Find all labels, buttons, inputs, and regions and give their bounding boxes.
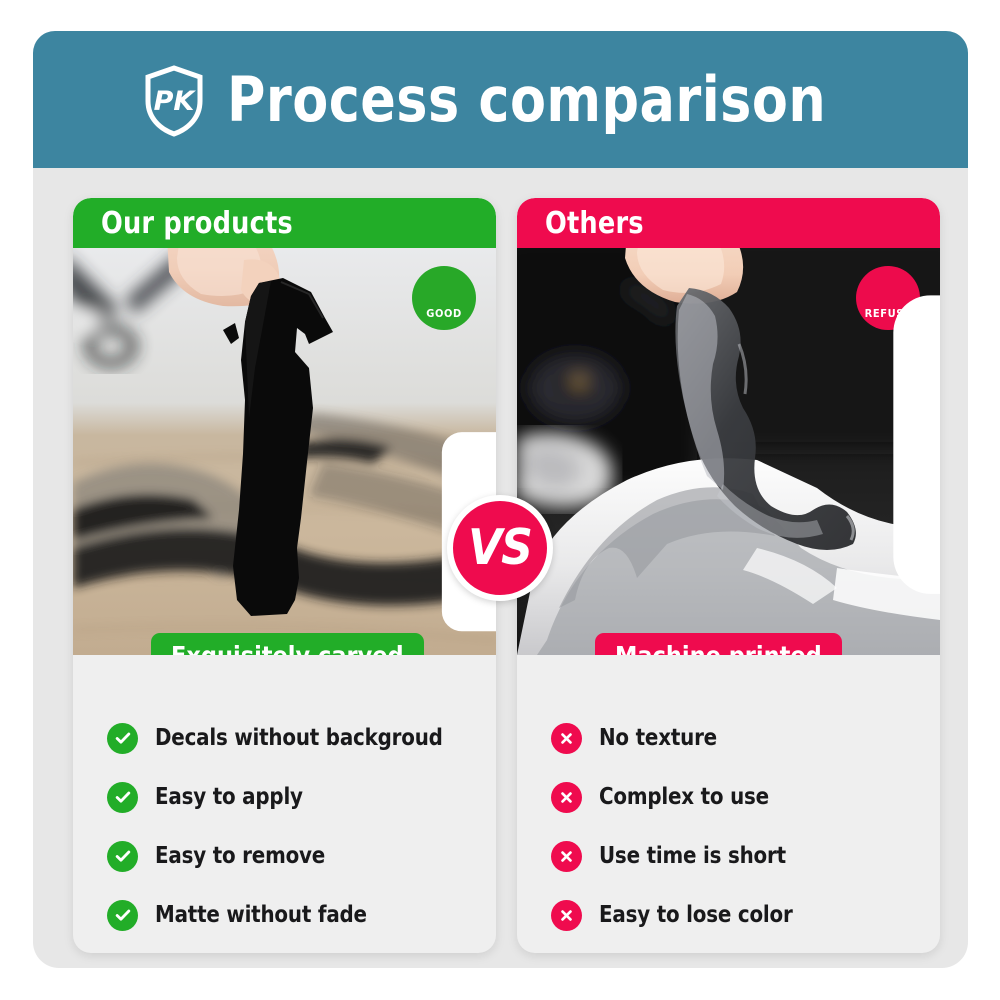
card-heading-ours: Our products xyxy=(73,198,496,248)
photo-others: REFUSE Machine printed xyxy=(517,248,940,655)
vs-badge-label: VS xyxy=(468,519,532,576)
card-heading-label: Others xyxy=(545,206,644,241)
card-heading-others: Others xyxy=(517,198,940,248)
svg-text:PK: PK xyxy=(154,86,197,117)
badge-good: GOOD xyxy=(412,266,476,330)
comparison-card-others: Others xyxy=(517,198,940,953)
check-icon xyxy=(107,723,138,754)
feature-item: Use time is short xyxy=(551,827,940,885)
infographic-root: PK Process comparison Our products xyxy=(0,0,1000,1000)
check-icon xyxy=(107,900,138,931)
badge-refuse: REFUSE xyxy=(856,266,920,330)
feature-list-ours: Decals without backgroud Easy to apply E… xyxy=(73,655,496,944)
vs-badge: VS xyxy=(447,495,553,601)
feature-label: Decals without backgroud xyxy=(155,725,443,751)
feature-label: Use time is short xyxy=(599,843,786,869)
cross-icon xyxy=(551,782,582,813)
pk-shield-logo-icon: PK xyxy=(143,65,205,137)
cross-icon xyxy=(551,841,582,872)
comparison-card-ours: Our products xyxy=(73,198,496,953)
cross-icon xyxy=(551,900,582,931)
feature-item: Decals without backgroud xyxy=(107,709,496,767)
card-heading-label: Our products xyxy=(101,206,293,241)
feature-item: Easy to apply xyxy=(107,768,496,826)
header-bar: PK Process comparison xyxy=(33,31,968,168)
feature-label: Easy to apply xyxy=(155,784,303,810)
check-icon xyxy=(107,782,138,813)
caption-exquisitely-carved: Exquisitely carved xyxy=(151,633,424,655)
feature-list-others: No texture Complex to use Use time is sh… xyxy=(517,655,940,944)
feature-label: Matte without fade xyxy=(155,902,367,928)
feature-item: Matte without fade xyxy=(107,886,496,944)
feature-item: Easy to lose color xyxy=(551,886,940,944)
feature-item: Easy to remove xyxy=(107,827,496,885)
check-icon xyxy=(107,841,138,872)
feature-label: No texture xyxy=(599,725,717,751)
feature-label: Easy to lose color xyxy=(599,902,793,928)
feature-label: Easy to remove xyxy=(155,843,325,869)
feature-item: Complex to use xyxy=(551,768,940,826)
page-title: Process comparison xyxy=(227,63,826,136)
caption-machine-printed: Machine printed xyxy=(595,633,842,655)
feature-item: No texture xyxy=(551,709,940,767)
cross-icon xyxy=(551,723,582,754)
photo-ours: GOOD Exquisitely carved xyxy=(73,248,496,655)
feature-label: Complex to use xyxy=(599,784,769,810)
